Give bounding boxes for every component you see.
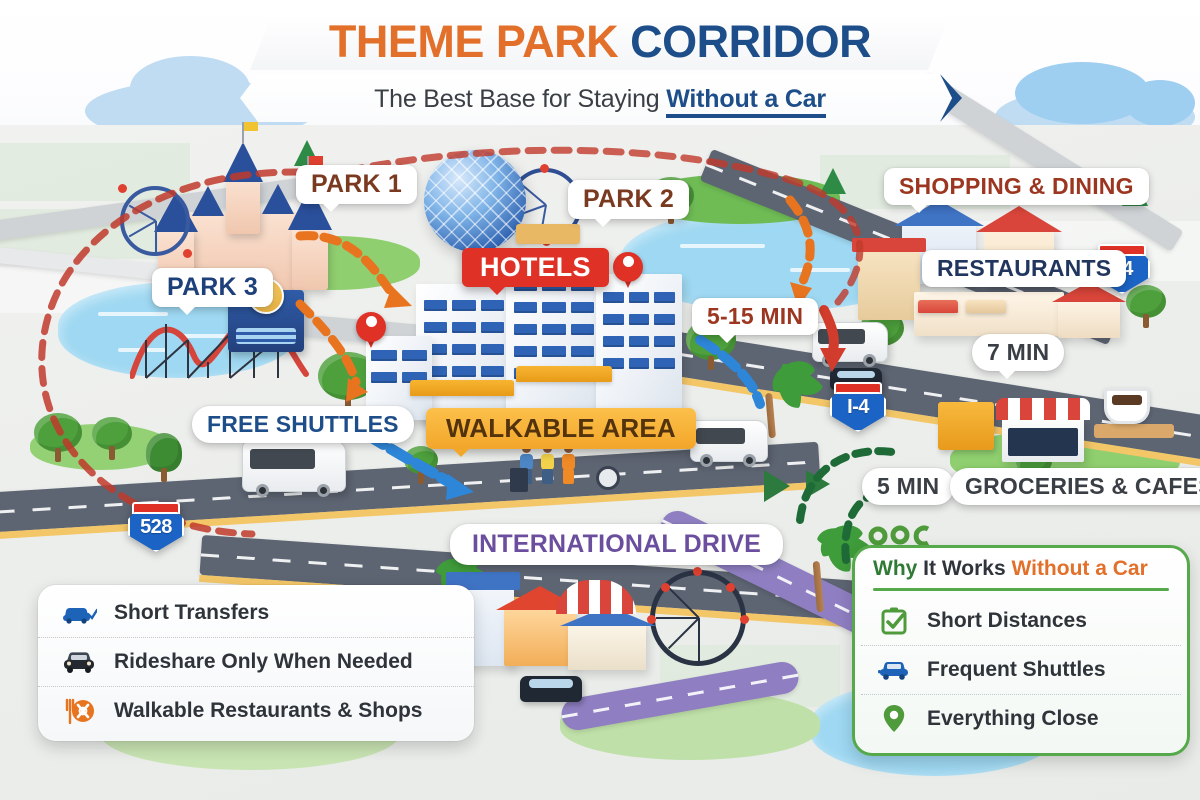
ferris-wheel-west (120, 186, 190, 256)
transport-legend: Short Transfers Rideshare Only When Need… (38, 585, 474, 741)
why-title-it-works: It Works (917, 557, 1011, 580)
tree (92, 418, 132, 460)
tree (146, 432, 182, 482)
why-item-frequent-shuttles[interactable]: Frequent Shuttles (861, 645, 1181, 694)
luggage-wheel (596, 466, 620, 490)
label-free-shuttles[interactable]: FREE SHUTTLES (192, 406, 414, 443)
legend-item-rideshare[interactable]: Rideshare Only When Needed (38, 637, 474, 686)
geosphere-attraction (424, 150, 526, 252)
shuttle-bus-central (690, 420, 768, 462)
why-panel-title: Why It Works Without a Car (861, 557, 1181, 588)
map-pin-hotels-west[interactable] (356, 312, 386, 342)
map-pin-hotels-east[interactable] (613, 252, 643, 282)
label-walkable-area[interactable]: WALKABLE AREA (426, 408, 696, 449)
title-part-corridor: CORRIDOR (630, 16, 871, 67)
title-part-theme-park: THEME PARK (329, 16, 630, 67)
why-item-short-distances[interactable]: Short Distances (861, 597, 1181, 645)
page-subtitle: The Best Base for Staying Without a Car (374, 85, 826, 114)
label-park-2[interactable]: PARK 2 (568, 180, 689, 219)
why-item-everything-close[interactable]: Everything Close (861, 694, 1181, 743)
label-time-to-shopping[interactable]: 7 MIN (972, 334, 1064, 371)
park-bench (516, 224, 580, 244)
legend-label: Rideshare Only When Needed (114, 650, 413, 673)
retail-strip (914, 292, 1064, 336)
shop-building (1058, 296, 1120, 338)
label-restaurants[interactable]: RESTAURANTS (922, 250, 1126, 287)
hotel-awning (516, 366, 612, 382)
hotel-building (596, 274, 682, 420)
highway-shield-528: 528 (128, 502, 184, 552)
storefront-awning (918, 300, 958, 313)
shuttle-bus-west (242, 440, 346, 492)
shop-roof (852, 238, 926, 252)
cafe-table (1094, 424, 1174, 438)
ferris-wheel-south (650, 570, 746, 666)
walk-dining-icon (60, 696, 98, 726)
grocery-shop (1002, 418, 1084, 462)
palm-tree (788, 530, 852, 612)
why-title-without-a-car: Without a Car (1011, 557, 1147, 580)
shield-number: 528 (128, 516, 184, 539)
label-international-drive[interactable]: INTERNATIONAL DRIVE (450, 524, 783, 565)
why-item-label: Short Distances (927, 609, 1087, 633)
title-block: THEME PARK CORRIDOR The Best Base for St… (0, 10, 1200, 124)
why-panel-divider (873, 588, 1169, 591)
why-it-works-panel: Why It Works Without a Car Short Distanc… (852, 545, 1190, 756)
highway-shield-i4-south: I-4 (830, 382, 886, 432)
hotel-awning (410, 380, 514, 396)
label-park-1[interactable]: PARK 1 (296, 165, 417, 204)
shield-number: I-4 (830, 396, 886, 419)
why-item-label: Frequent Shuttles (927, 658, 1106, 682)
title-ribbon: THEME PARK CORRIDOR (250, 10, 950, 72)
tree (404, 448, 438, 484)
why-title-why: Why (873, 557, 917, 580)
idrive-building (568, 622, 646, 670)
market-stall (938, 402, 994, 450)
subtitle-plain: The Best Base for Staying (374, 85, 666, 113)
pedestrian (539, 444, 555, 484)
label-hotels[interactable]: HOTELS (462, 248, 609, 287)
conifer-tree (820, 168, 846, 196)
car-check-icon (60, 598, 98, 628)
legend-label: Short Transfers (114, 601, 269, 624)
page-title: THEME PARK CORRIDOR (329, 19, 871, 64)
legend-label: Walkable Restaurants & Shops (114, 699, 422, 722)
location-pin-icon (875, 704, 913, 734)
shuttle-bus-icon (875, 655, 913, 685)
label-time-to-groceries[interactable]: 5 MIN (862, 468, 954, 505)
car-front-icon (60, 647, 98, 677)
label-groceries-cafes[interactable]: GROCERIES & CAFES (950, 468, 1200, 505)
shop-roof (976, 206, 1062, 232)
subtitle-ribbon: The Best Base for Staying Without a Car (240, 74, 960, 124)
storefront-awning (966, 300, 1006, 313)
label-time-to-parks[interactable]: 5-15 MIN (692, 298, 818, 335)
legend-item-short-transfers[interactable]: Short Transfers (38, 589, 474, 637)
subtitle-emphasis: Without a Car (666, 85, 826, 118)
shuttle-bus-east (812, 322, 888, 362)
legend-item-walkable-restaurants[interactable]: Walkable Restaurants & Shops (38, 686, 474, 735)
grocery-awning (996, 398, 1090, 420)
checklist-icon (875, 606, 913, 636)
why-item-label: Everything Close (927, 707, 1099, 731)
label-park-3[interactable]: PARK 3 (152, 268, 273, 307)
shop-building (858, 252, 920, 320)
tree (34, 412, 82, 462)
parked-car (520, 676, 582, 702)
pedestrian (560, 444, 576, 484)
label-shopping-dining[interactable]: SHOPPING & DINING (884, 168, 1149, 205)
luggage-bag (510, 468, 528, 492)
coffee-cup-icon (1104, 388, 1150, 424)
